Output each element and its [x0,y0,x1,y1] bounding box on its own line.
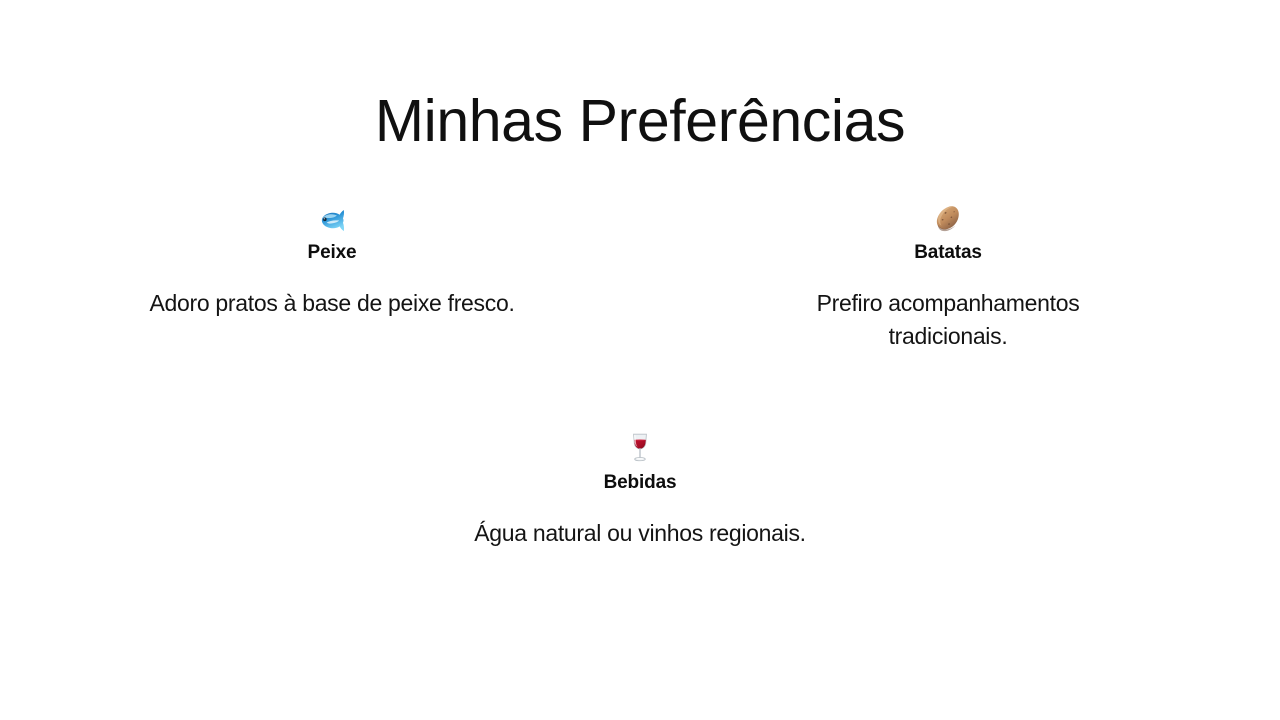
fish-emoji [88,196,576,238]
potato-emoji [768,196,1128,238]
preference-card-body: Prefiro acompanhamentos tradicionais. [768,287,1128,353]
preference-card-heading: Batatas [768,242,1128,265]
preference-card-batatas: Batatas Prefiro acompanhamentos tradicio… [768,196,1128,353]
preference-card-peixe: Peixe Adoro pratos à base de peixe fresc… [88,196,576,320]
wine-glass-emoji [425,426,855,468]
preference-card-heading: Bebidas [425,472,855,495]
slide-canvas: Minhas Preferências [0,0,1280,720]
preference-card-heading: Peixe [88,242,576,265]
preference-card-body: Adoro pratos à base de peixe fresco. [88,287,576,320]
preference-card-bebidas: Bebidas Água natural ou vinhos regionais… [425,426,855,550]
preference-card-body: Água natural ou vinhos regionais. [425,517,855,550]
page-title: Minhas Preferências [0,88,1280,156]
